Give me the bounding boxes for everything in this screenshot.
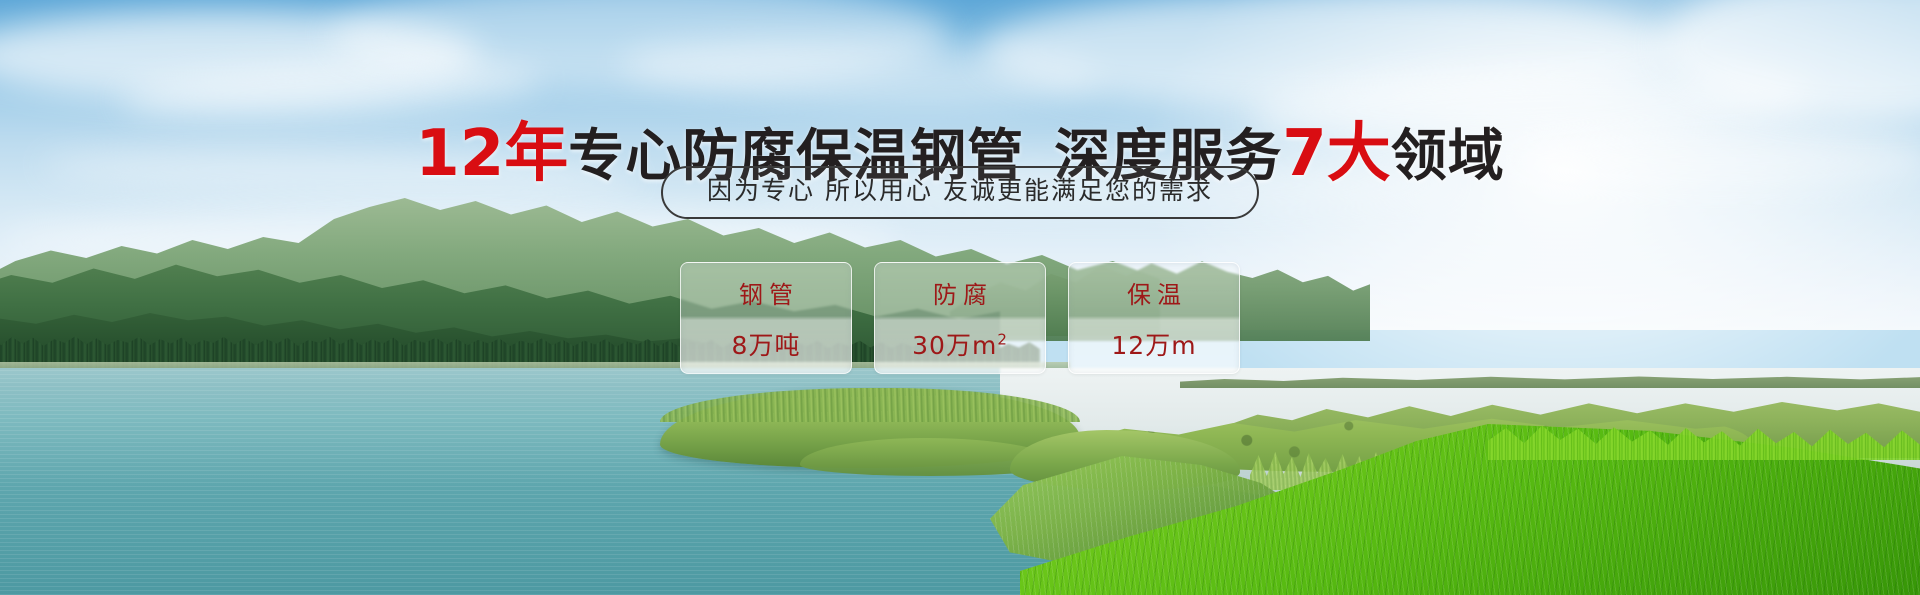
hero-banner: 12年专心防腐保温钢管深度服务7大领域 因为专心 所以用心 友诚更能满足您的需求…	[0, 0, 1920, 595]
stat-card-value: 12万m	[1111, 326, 1196, 362]
stat-card-value-main: 30万m	[912, 331, 997, 360]
banner-content: 12年专心防腐保温钢管深度服务7大领域 因为专心 所以用心 友诚更能满足您的需求…	[0, 0, 1920, 595]
stat-card-title: 钢管	[733, 275, 799, 310]
banner-subtitle-pill: 因为专心 所以用心 友诚更能满足您的需求	[661, 166, 1259, 219]
stat-card-value: 8万吨	[732, 326, 801, 362]
stat-card-value: 30万m2	[912, 326, 1008, 362]
stat-card: 防腐 30万m2	[874, 262, 1046, 374]
stat-card: 钢管 8万吨	[680, 262, 852, 374]
stat-card-value-main: 12万m	[1111, 331, 1196, 360]
banner-subtitle-wrapper: 因为专心 所以用心 友诚更能满足您的需求	[0, 166, 1920, 219]
stat-card: 保温 12万m	[1068, 262, 1240, 374]
stat-card-title: 防腐	[927, 275, 993, 310]
stat-card-value-sup: 2	[997, 330, 1008, 348]
stat-card-title: 保温	[1121, 275, 1187, 310]
stat-card-value-main: 8万吨	[732, 331, 801, 360]
stat-card-list: 钢管 8万吨 防腐 30万m2 保温 12万m	[0, 262, 1920, 374]
